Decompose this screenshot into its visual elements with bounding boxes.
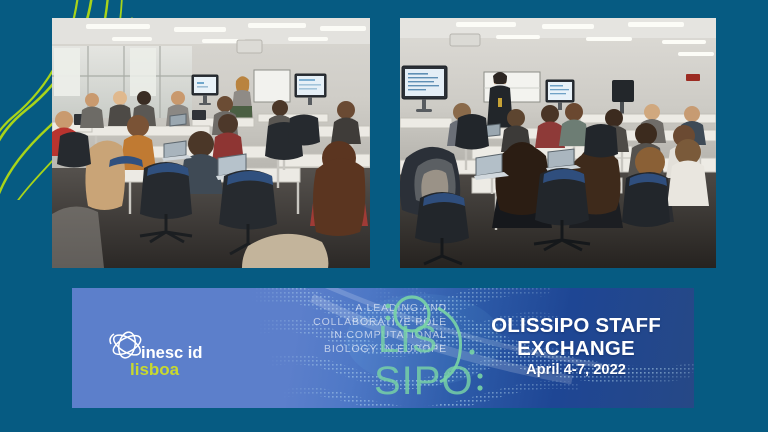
classroom-photo-right	[400, 18, 716, 268]
event-banner: inesc id lisboa A LEADING AND COLLABORAT…	[72, 288, 694, 408]
event-title-block: OLISSIPO STAFF EXCHANGE April 4-7, 2022	[467, 314, 685, 378]
event-title: OLISSIPO STAFF EXCHANGE	[467, 314, 685, 360]
presentation-slide: inesc id lisboa A LEADING AND COLLABORAT…	[0, 0, 768, 432]
svg-text:SIPO: SIPO	[374, 359, 474, 403]
event-date: April 4-7, 2022	[467, 362, 685, 378]
lisboa-text: lisboa	[130, 360, 180, 379]
svg-text:LIS: LIS	[378, 319, 438, 361]
classroom-photo-left	[52, 18, 370, 268]
